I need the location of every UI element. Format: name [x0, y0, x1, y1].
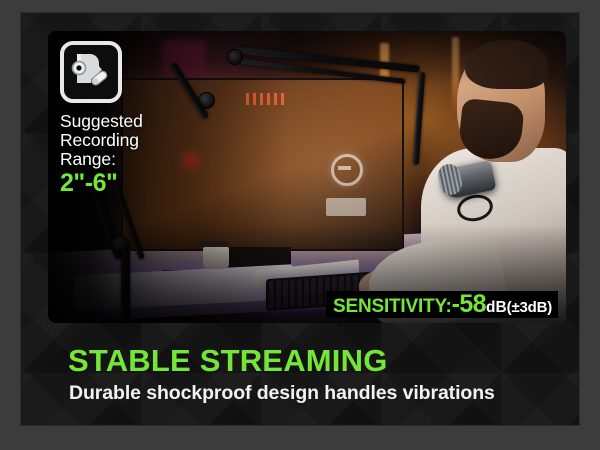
range-line-1: Suggested	[60, 112, 180, 131]
dark-textured-panel: Suggested Recording Range: 2"-6" SENSITI…	[20, 12, 580, 426]
monitor-emblem-icon	[331, 154, 363, 186]
product-feature-card: Suggested Recording Range: 2"-6" SENSITI…	[0, 0, 600, 450]
monitor-badge	[326, 198, 366, 216]
sensitivity-badge: SENSITIVITY: -58 dB (±3dB)	[326, 291, 558, 318]
headline: STABLE STREAMING	[68, 343, 388, 379]
sensitivity-tolerance: (±3dB)	[507, 294, 552, 321]
range-line-2: Recording	[60, 131, 180, 150]
head-with-headphones-and-microphone-icon	[60, 41, 122, 103]
range-text-lines: Suggested Recording Range: 2"-6"	[60, 112, 180, 197]
subheadline: Durable shockproof design handles vibrat…	[69, 381, 495, 405]
suggested-recording-range-callout: Suggested Recording Range: 2"-6"	[60, 41, 180, 197]
sensitivity-value: -58	[452, 291, 486, 318]
sensitivity-unit: dB	[486, 294, 507, 321]
sensitivity-label: SENSITIVITY:	[333, 293, 452, 320]
range-line-3: Range:	[60, 150, 180, 169]
range-value: 2"-6"	[60, 170, 180, 197]
